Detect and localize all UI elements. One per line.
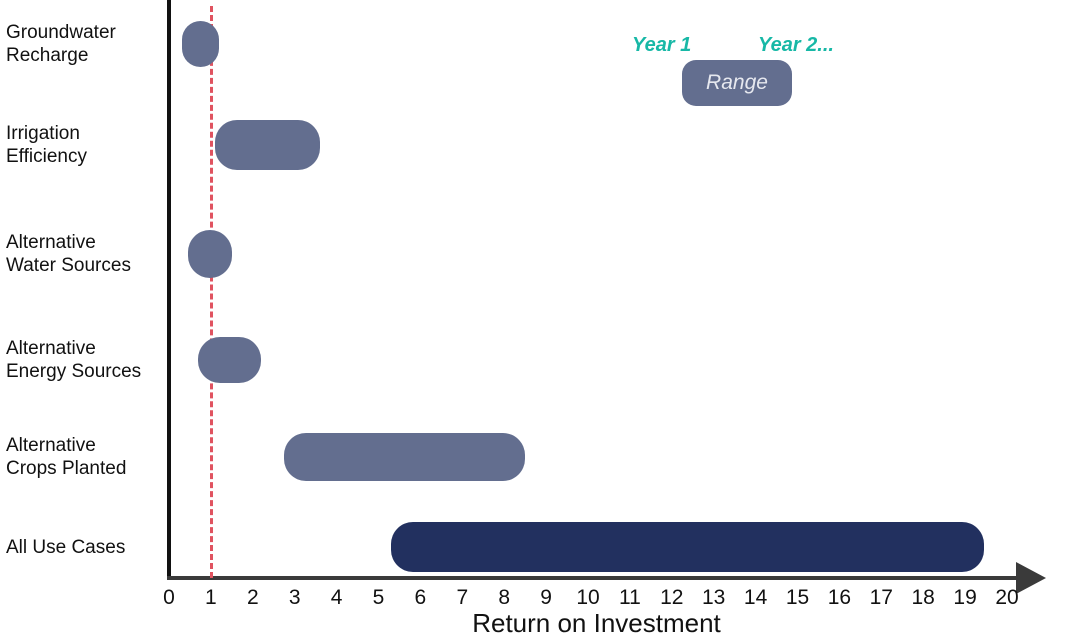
x-tick-8: 8 — [484, 586, 524, 610]
x-tick-15: 15 — [778, 586, 818, 610]
category-label-line: Crops Planted — [6, 457, 164, 480]
category-label-line: Water Sources — [6, 254, 164, 277]
bar-alternative-energy-sources — [198, 337, 261, 383]
x-tick-20: 20 — [987, 586, 1027, 610]
x-tick-10: 10 — [568, 586, 608, 610]
bar-groundwater-recharge — [182, 21, 220, 67]
x-tick-16: 16 — [819, 586, 859, 610]
category-label-irrigation-efficiency: IrrigationEfficiency — [6, 122, 164, 168]
x-tick-19: 19 — [945, 586, 985, 610]
x-tick-11: 11 — [610, 586, 650, 610]
category-label-alternative-water-sources: AlternativeWater Sources — [6, 231, 164, 277]
legend-range-swatch: Range — [682, 60, 792, 106]
category-label-line: All Use Cases — [6, 536, 164, 559]
x-tick-18: 18 — [903, 586, 943, 610]
category-label-line: Alternative — [6, 337, 164, 360]
x-tick-12: 12 — [652, 586, 692, 610]
category-label-all-use-cases: All Use Cases — [6, 536, 164, 559]
x-axis-title: Return on Investment — [169, 608, 1024, 639]
category-label-line: Efficiency — [6, 145, 164, 168]
category-label-line: Irrigation — [6, 122, 164, 145]
category-label-groundwater-recharge: GroundwaterRecharge — [6, 21, 164, 67]
x-tick-6: 6 — [400, 586, 440, 610]
x-tick-14: 14 — [736, 586, 776, 610]
x-tick-9: 9 — [526, 586, 566, 610]
legend-year2-label: Year 2... — [758, 34, 834, 57]
x-tick-17: 17 — [861, 586, 901, 610]
x-tick-7: 7 — [442, 586, 482, 610]
category-label-line: Alternative — [6, 231, 164, 254]
category-label-line: Energy Sources — [6, 360, 164, 383]
x-tick-13: 13 — [694, 586, 734, 610]
roi-range-chart: GroundwaterRechargeIrrigationEfficiencyA… — [0, 0, 1080, 641]
legend-range-label: Range — [706, 71, 768, 95]
legend-year1-label: Year 1 — [632, 34, 691, 57]
x-tick-4: 4 — [317, 586, 357, 610]
x-tick-3: 3 — [275, 586, 315, 610]
threshold-line — [210, 6, 213, 578]
x-tick-1: 1 — [191, 586, 231, 610]
category-label-line: Groundwater — [6, 21, 164, 44]
bar-alternative-water-sources — [188, 230, 232, 278]
bar-all-use-cases — [391, 522, 984, 572]
x-tick-2: 2 — [233, 586, 273, 610]
x-tick-5: 5 — [359, 586, 399, 610]
category-label-line: Alternative — [6, 434, 164, 457]
legend: Year 1 Year 2... Range — [610, 22, 910, 122]
category-label-alternative-crops-planted: AlternativeCrops Planted — [6, 434, 164, 480]
y-axis-spine — [167, 0, 171, 578]
x-axis-line — [167, 576, 1022, 580]
x-tick-0: 0 — [149, 586, 189, 610]
category-label-alternative-energy-sources: AlternativeEnergy Sources — [6, 337, 164, 383]
bar-irrigation-efficiency — [215, 120, 320, 170]
category-label-line: Recharge — [6, 44, 164, 67]
bar-alternative-crops-planted — [284, 433, 525, 481]
